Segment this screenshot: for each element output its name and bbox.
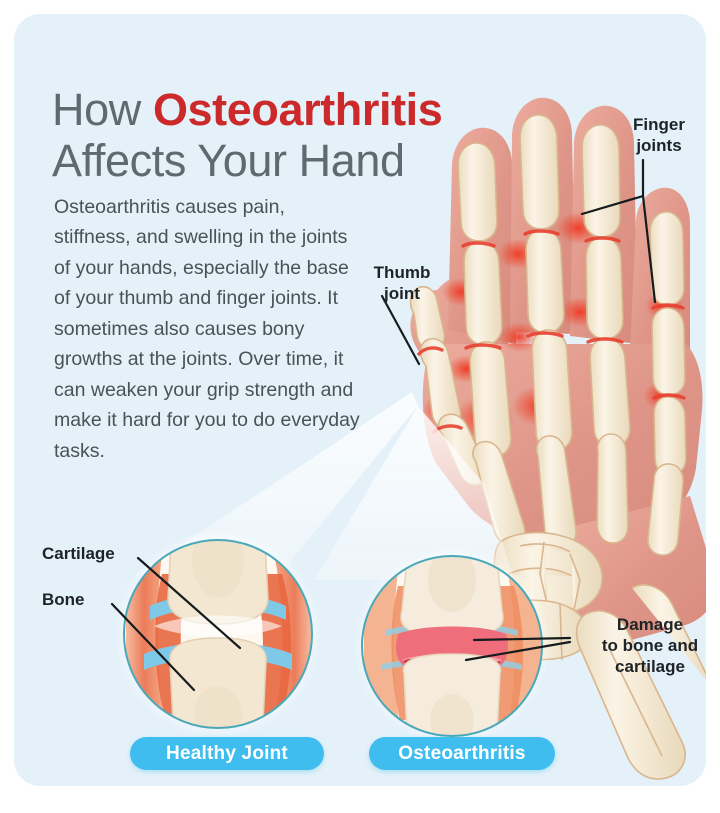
- callout-thumb-joint-line1: Thumb: [374, 263, 431, 282]
- leader-finger-lower: [643, 196, 655, 302]
- caption-healthy-joint: Healthy Joint: [130, 737, 324, 770]
- leader-damage-lower: [466, 642, 570, 660]
- callout-bone: Bone: [42, 589, 160, 610]
- callout-damage-line1: Damage: [617, 615, 683, 634]
- title-line-2: Affects Your Hand: [52, 135, 572, 186]
- callout-damage-line2: to bone and: [602, 636, 698, 655]
- osteoarthritis-joint-diagram: [353, 547, 551, 754]
- page-title: How Osteoarthritis Affects Your Hand: [52, 84, 572, 186]
- callout-finger-joints-line1: Finger: [633, 115, 685, 134]
- title-plain: How: [52, 84, 153, 135]
- leader-damage-upper: [474, 638, 570, 640]
- leader-thumb: [382, 296, 419, 364]
- title-highlight: Osteoarthritis: [153, 84, 442, 135]
- intro-paragraph: Osteoarthritis causes pain, stiffness, a…: [54, 192, 362, 467]
- leader-bone: [112, 604, 194, 690]
- callout-damage-line3: cartilage: [615, 657, 685, 676]
- callout-damage: Damage to bone and cartilage: [580, 614, 706, 677]
- callout-finger-joints-line2: joints: [636, 136, 681, 155]
- callout-thumb-joint: Thumb joint: [354, 262, 450, 304]
- inflamed-joint-glow: [422, 212, 683, 440]
- callout-cartilage: Cartilage: [42, 543, 160, 564]
- callout-finger-joints: Finger joints: [609, 114, 706, 156]
- callout-thumb-joint-line2: joint: [384, 284, 420, 303]
- caption-osteoarthritis: Osteoarthritis: [369, 737, 555, 770]
- infographic-card: How Osteoarthritis Affects Your Hand Ost…: [14, 14, 706, 786]
- inflamed-joint-markers: [419, 231, 684, 432]
- leader-finger-upper: [582, 160, 643, 214]
